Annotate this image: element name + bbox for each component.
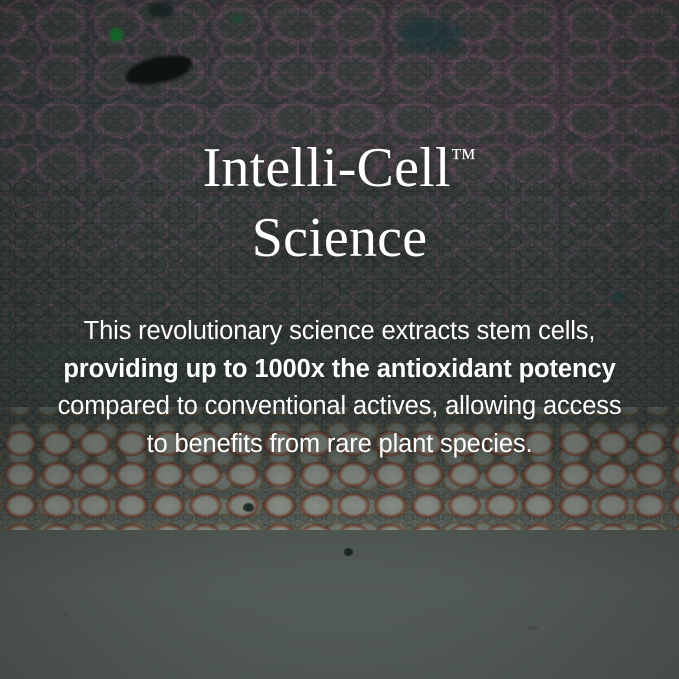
body-segment-emphasis: providing up to 1000x the antioxidant po…: [63, 355, 615, 383]
title-line-1: Intelli-Cell: [203, 137, 451, 199]
page-title: Intelli-Cell™ Science: [0, 123, 679, 273]
card-content: Intelli-Cell™ Science This revolutionary…: [0, 0, 679, 679]
body-segment-lead: This revolutionary science extracts stem…: [84, 317, 596, 345]
trademark-icon: ™: [451, 143, 477, 172]
body-paragraph: This revolutionary science extracts stem…: [0, 313, 679, 463]
body-segment-tail: compared to conventional actives, allowi…: [58, 392, 622, 458]
title-line-2: Science: [30, 203, 649, 273]
science-card: Intelli-Cell™ Science This revolutionary…: [0, 0, 679, 679]
